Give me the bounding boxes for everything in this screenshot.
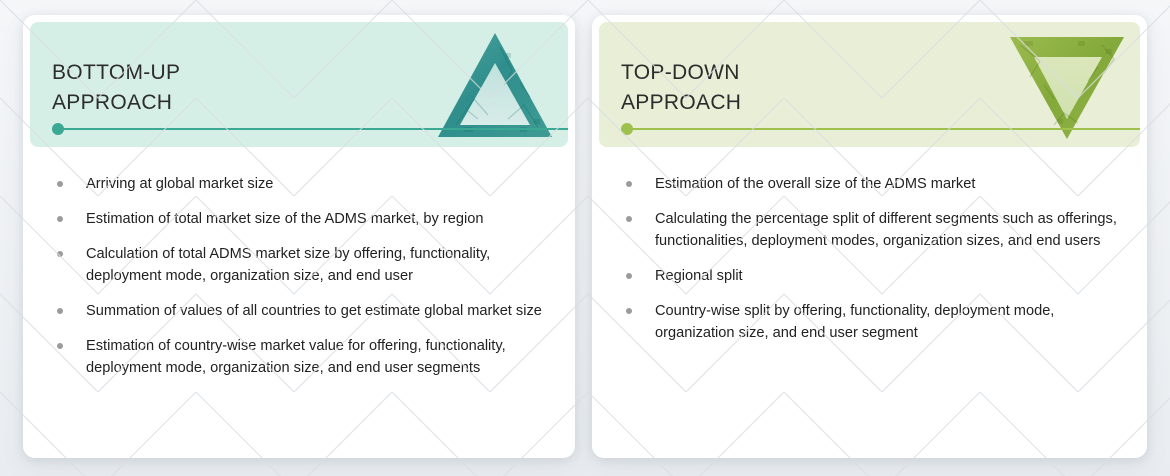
list-item: Estimation of country-wise market value … bbox=[52, 335, 550, 379]
list-item-text: Calculating the percentage split of diff… bbox=[655, 211, 1117, 249]
list-item-text: Estimation of country-wise market value … bbox=[86, 338, 506, 376]
panel-bottom-up-title: BOTTOM-UP APPROACH bbox=[52, 58, 180, 118]
bottom-up-bullet-list: Arriving at global market size Estimatio… bbox=[52, 173, 550, 379]
panel-bottom-up-body: Arriving at global market size Estimatio… bbox=[30, 147, 568, 379]
list-item: Arriving at global market size bbox=[52, 173, 550, 195]
list-item-text: Country-wise split by offering, function… bbox=[655, 303, 1054, 341]
top-down-bullet-list: Estimation of the overall size of the AD… bbox=[621, 173, 1122, 344]
accent-line bbox=[60, 128, 568, 130]
list-item-text: Summation of values of all countries to … bbox=[86, 303, 542, 319]
panel-top-down-header: TOP-DOWN APPROACH bbox=[599, 22, 1140, 147]
panel-top-down-accent-rule bbox=[621, 123, 1140, 135]
panel-bottom-up: BOTTOM-UP APPROACH bbox=[23, 15, 575, 458]
diagram-canvas: BOTTOM-UP APPROACH bbox=[0, 0, 1170, 476]
bullet-dot-icon bbox=[626, 181, 632, 187]
list-item: Summation of values of all countries to … bbox=[52, 300, 550, 322]
bullet-dot-icon bbox=[626, 216, 632, 222]
list-item-text: Regional split bbox=[655, 268, 743, 284]
list-item-text: Calculation of total ADMS market size by… bbox=[86, 246, 490, 284]
panel-top-down-title: TOP-DOWN APPROACH bbox=[621, 58, 741, 118]
list-item-text: Arriving at global market size bbox=[86, 176, 273, 192]
bullet-dot-icon bbox=[57, 308, 63, 314]
bullet-dot-icon bbox=[626, 308, 632, 314]
list-item-text: Estimation of total market size of the A… bbox=[86, 211, 483, 227]
panel-bottom-up-header: BOTTOM-UP APPROACH bbox=[30, 22, 568, 147]
list-item: Regional split bbox=[621, 265, 1122, 287]
bullet-dot-icon bbox=[57, 181, 63, 187]
bullet-dot-icon bbox=[57, 251, 63, 257]
panel-top-down-body: Estimation of the overall size of the AD… bbox=[599, 147, 1140, 344]
bullet-dot-icon bbox=[57, 343, 63, 349]
list-item: Estimation of the overall size of the AD… bbox=[621, 173, 1122, 195]
list-item: Calculating the percentage split of diff… bbox=[621, 208, 1122, 252]
panel-bottom-up-accent-rule bbox=[52, 123, 568, 135]
list-item: Estimation of total market size of the A… bbox=[52, 208, 550, 230]
accent-line bbox=[629, 128, 1140, 130]
bullet-dot-icon bbox=[57, 216, 63, 222]
bullet-dot-icon bbox=[626, 273, 632, 279]
list-item: Calculation of total ADMS market size by… bbox=[52, 243, 550, 287]
panel-top-down: TOP-DOWN APPROACH bbox=[592, 15, 1147, 458]
list-item-text: Estimation of the overall size of the AD… bbox=[655, 176, 975, 192]
list-item: Country-wise split by offering, function… bbox=[621, 300, 1122, 344]
